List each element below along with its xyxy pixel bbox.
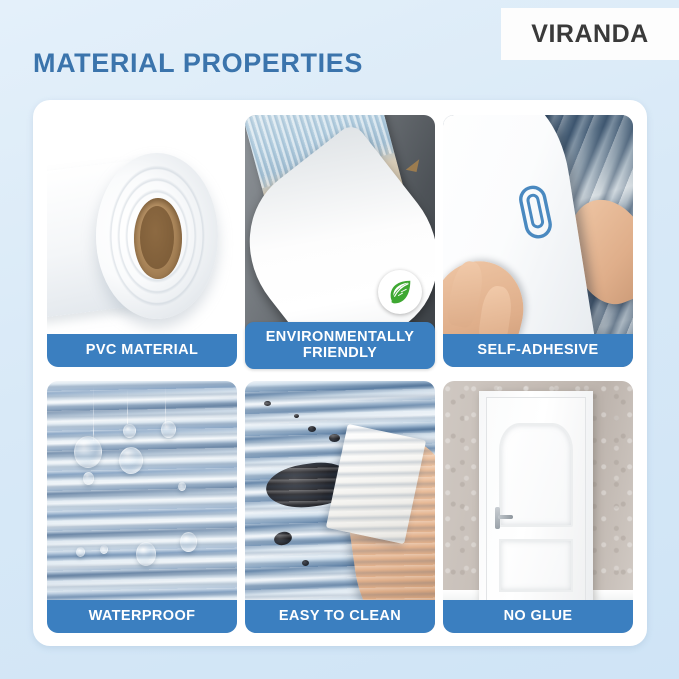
- feature-label-waterproof: WATERPROOF: [47, 600, 237, 633]
- feature-image-easy-to-clean: [245, 381, 435, 633]
- feature-label-environmentally-friendly: ENVIRONMENTALLY FRIENDLY: [245, 322, 435, 369]
- feature-cell-pvc-material[interactable]: PVC MATERIAL: [47, 115, 237, 367]
- feature-image-no-glue: [443, 381, 633, 633]
- features-grid: PVC MATERIAL ENVI: [47, 115, 633, 633]
- feature-label-pvc-material: PVC MATERIAL: [47, 334, 237, 367]
- page-title: MATERIAL PROPERTIES: [33, 48, 363, 79]
- feature-cell-easy-to-clean[interactable]: EASY TO CLEAN: [245, 381, 435, 633]
- feature-image-self-adhesive: [443, 115, 633, 367]
- feature-label-easy-to-clean: EASY TO CLEAN: [245, 600, 435, 633]
- feature-label-line1: ENVIRONMENTALLY: [266, 329, 415, 345]
- feature-label-line2: FRIENDLY: [303, 345, 377, 361]
- leaf-icon: [378, 270, 422, 314]
- brand-name: VIRANDA: [531, 20, 648, 49]
- feature-cell-self-adhesive[interactable]: SELF-ADHESIVE: [443, 115, 633, 367]
- feature-image-waterproof: [47, 381, 237, 633]
- feature-image-pvc-material: [47, 115, 237, 367]
- feature-label-no-glue: NO GLUE: [443, 600, 633, 633]
- feature-label-self-adhesive: SELF-ADHESIVE: [443, 334, 633, 367]
- feature-cell-waterproof[interactable]: WATERPROOF: [47, 381, 237, 633]
- feature-cell-environmentally-friendly[interactable]: ENVIRONMENTALLY FRIENDLY: [245, 115, 435, 367]
- brand-logo-box: VIRANDA: [501, 8, 679, 60]
- page-header: VIRANDA MATERIAL PROPERTIES: [0, 0, 679, 100]
- features-card: PVC MATERIAL ENVI: [33, 100, 647, 646]
- feature-cell-no-glue[interactable]: NO GLUE: [443, 381, 633, 633]
